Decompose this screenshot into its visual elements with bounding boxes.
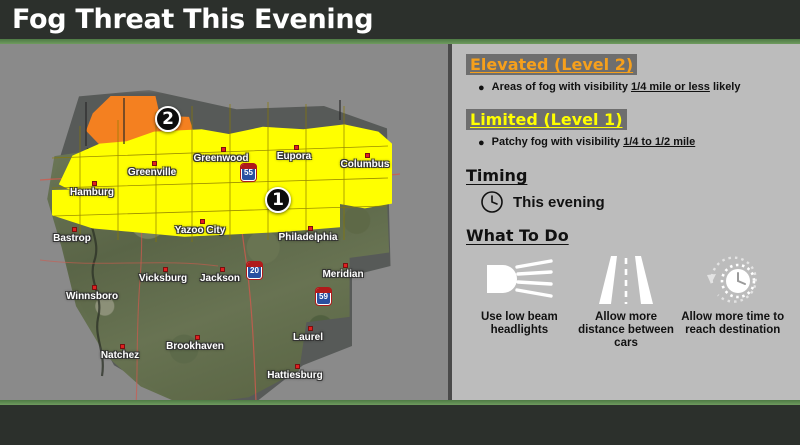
city-dot <box>308 226 313 231</box>
whattodo-item: Allow more time to reach destination <box>679 251 786 350</box>
city-label: Philadelphia <box>279 232 338 243</box>
city-label: Meridian <box>322 269 363 280</box>
elevated-bullet: ● Areas of fog with visibility 1/4 mile … <box>478 81 786 95</box>
timing-row: This evening <box>480 190 786 214</box>
title-bar: Fog Threat This Evening <box>0 0 800 39</box>
elevated-bullet-emphasis: 1/4 mile or less <box>631 81 710 93</box>
limited-bullet: ● Patchy fog with visibility 1/4 to 1/2 … <box>478 136 786 150</box>
footer-bar: NATIONAL WEATHER SERVICE JACKSON MISSISS… <box>0 405 800 445</box>
city-label: Greenwood <box>193 153 248 164</box>
city-dot <box>343 263 348 268</box>
whattodo-caption: Allow more distance between cars <box>573 311 680 350</box>
graphic-root: Fog Threat This Evening <box>0 0 800 445</box>
bullet-dot: ● <box>478 81 485 95</box>
highway-shield-59: 59 <box>316 288 331 305</box>
limited-bullet-pre: Patchy fog with visibility <box>492 136 623 148</box>
city-dot <box>72 227 77 232</box>
city-dot <box>163 267 168 272</box>
low-beam-headlight-icon <box>481 251 557 309</box>
city-label: Bastrop <box>53 233 91 244</box>
whattodo-caption: Allow more time to reach destination <box>679 311 786 337</box>
whattodo-item: Allow more distance between cars <box>573 251 680 350</box>
city-dot <box>200 219 205 224</box>
city-label: Hamburg <box>70 187 114 198</box>
city-label: Hattiesburg <box>267 370 323 381</box>
city-label: Eupora <box>277 151 311 162</box>
spacer <box>466 150 786 164</box>
highway-shield-55: 55 <box>241 164 256 181</box>
city-dot <box>92 285 97 290</box>
whattodo-list: Use low beam headlights Allow more dista… <box>466 251 786 350</box>
city-dot <box>365 153 370 158</box>
county-boundaries <box>40 90 400 400</box>
road-lanes-icon <box>595 251 657 309</box>
city-label: Columbus <box>341 159 390 170</box>
elevated-heading: Elevated (Level 2) <box>466 54 637 75</box>
whattodo-caption: Use low beam headlights <box>466 311 573 337</box>
city-label: Winnsboro <box>66 291 118 302</box>
city-dot <box>92 181 97 186</box>
limited-bullet-emphasis: 1/4 to 1/2 mile <box>623 136 695 148</box>
city-label: Natchez <box>101 350 139 361</box>
timing-value: This evening <box>513 194 605 211</box>
city-label: Greenville <box>128 167 176 178</box>
page-title: Fog Threat This Evening <box>12 4 373 35</box>
city-dot <box>120 344 125 349</box>
city-dot <box>295 364 300 369</box>
city-label: Jackson <box>200 273 240 284</box>
whattodo-item: Use low beam headlights <box>466 251 573 350</box>
elevated-bullet-post: likely <box>710 81 741 93</box>
threat-map[interactable]: 55 20 59 Hamburg Greenville Greenwood Eu… <box>0 44 450 400</box>
spacer <box>466 95 786 109</box>
city-dot <box>294 145 299 150</box>
city-dot <box>152 161 157 166</box>
city-dot <box>220 267 225 272</box>
bullet-dot: ● <box>478 136 485 150</box>
city-dot <box>195 335 200 340</box>
timing-heading: Timing <box>466 166 786 185</box>
highway-shield-20: 20 <box>247 262 262 279</box>
elevated-bullet-pre: Areas of fog with visibility <box>492 81 631 93</box>
limited-heading: Limited (Level 1) <box>466 109 627 130</box>
city-label: Vicksburg <box>139 273 187 284</box>
city-dot <box>221 147 226 152</box>
level-marker-2: 2 <box>155 106 181 132</box>
level-marker-1: 1 <box>265 187 291 213</box>
city-label: Yazoo City <box>175 225 226 236</box>
whattodo-heading: What To Do <box>466 226 786 245</box>
city-dot <box>308 326 313 331</box>
info-panel: Elevated (Level 2) ● Areas of fog with v… <box>452 44 800 400</box>
city-label: Laurel <box>293 332 323 343</box>
clock-icon <box>480 190 504 214</box>
city-label: Brookhaven <box>166 341 224 352</box>
clock-arrow-icon <box>702 251 764 309</box>
